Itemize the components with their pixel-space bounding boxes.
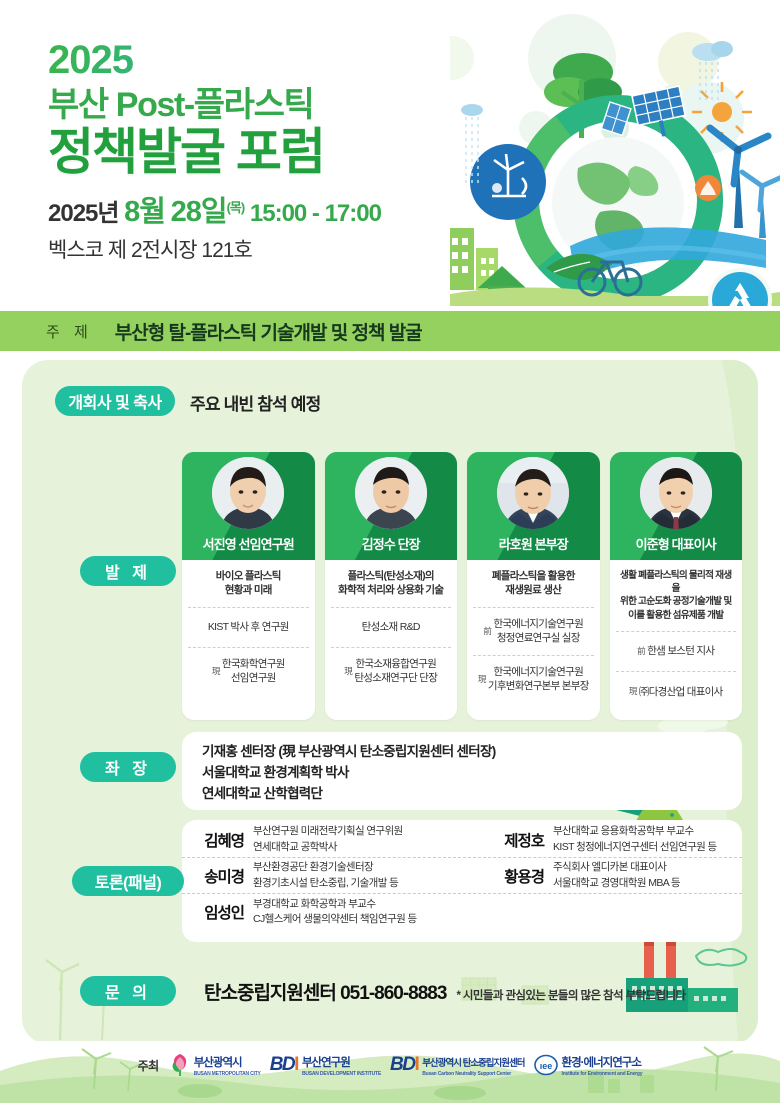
panelist-desc: 부산연구원 미래전략기획실 연구위원 연세대학교 공학박사	[253, 824, 403, 854]
speaker-card-header: 이준형 대표이사	[610, 452, 743, 560]
host-logo-row: 주최 부산광역시 BUSAN METROPOLITAN CITY BDI 부산연…	[0, 1053, 780, 1077]
date-weekday: (목)	[227, 200, 245, 215]
speaker-name: 서진영 선임연구원	[182, 534, 315, 553]
speaker-current-role: 現 한국에너지기술연구원 기후변화연구본부 본부장	[473, 656, 594, 703]
speaker-card-body: 폐플라스틱을 활용한 재생원료 생산 前 한국에너지기술연구원 청정연료연구실 …	[467, 560, 600, 711]
event-venue: 벡스코 제 2전시장 121호	[48, 234, 381, 264]
theme-label: 주 제	[46, 321, 93, 342]
date-month: 8월	[124, 196, 165, 228]
panelist-row: 임성인 부경대학교 화학공학과 부교수 CJ헬스케어 생물의약센터 책임연구원 …	[182, 894, 742, 930]
speaker-current-text: 한국화학연구원 선임연구원	[222, 657, 285, 686]
program-panel: 개회사 및 축사 주요 내빈 참석 예정 발 제	[22, 360, 758, 1044]
pill-discussion-label: 토론(패널)	[95, 869, 162, 893]
speaker-prev-role: 前 한국에너지기술연구원 청정연료연구실 실장	[473, 608, 594, 656]
speaker-card-header: 김정수 단장	[325, 452, 458, 560]
panelist-row: 송미경 부산환경공단 환경기술센터장 환경기초시설 탄소중립, 기술개발 등 황…	[182, 858, 742, 894]
bdi-wordmark: BDI	[270, 1054, 298, 1076]
logo-text-block: 부산광역시 BUSAN METROPOLITAN CITY	[194, 1053, 261, 1077]
poster-header: 2025 부산 Post-플라스틱 정책발굴 포럼 2025년 8월 28일(목…	[0, 0, 780, 306]
panelist-desc: 부경대학교 화학공학과 부교수 CJ헬스케어 생물의약센터 책임연구원 등	[253, 897, 417, 927]
title-line-1: 부산 Post-플라스틱	[48, 86, 381, 124]
speaker-prev-mark: 前	[637, 646, 645, 658]
inquiry-details: 탄소중립지원센터 051-860-8883 * 시민들과 관심있는 분들의 많은…	[204, 978, 685, 1005]
logo-name-en: Institute for Environment and Energy	[562, 1071, 643, 1077]
busan-city-emblem-icon	[170, 1053, 190, 1077]
panelist-entry: 김혜영 부산연구원 미래전략기획실 연구위원 연세대학교 공학박사	[182, 824, 482, 854]
speaker-prev-mark: 前	[483, 626, 491, 638]
pill-opening-label: 개회사 및 축사	[68, 389, 161, 413]
panelist-entry: 송미경 부산환경공단 환경기술센터장 환경기초시설 탄소중립, 기술개발 등	[182, 860, 482, 890]
speaker-card[interactable]: 김정수 단장 플라스틱(탄성소재)의 화학적 처리와 상용화 기술 탄성소재 R…	[325, 452, 458, 720]
event-datetime: 2025년 8월 28일(목) 15:00 - 17:00	[48, 195, 381, 230]
speaker-topic: 플라스틱(탄성소재)의 화학적 처리와 상용화 기술	[331, 560, 452, 608]
bdi-wordmark: BDI	[390, 1054, 418, 1076]
speaker-card[interactable]: 이준형 대표이사 생활 폐플라스틱의 물리적 재생을 위한 고순도화 공정기술개…	[610, 452, 743, 720]
speaker-topic: 폐플라스틱을 활용한 재생원료 생산	[473, 560, 594, 608]
chair-details: 기재홍 센터장 (現 부산광역시 탄소중립지원센터 센터장) 서울대학교 환경계…	[202, 742, 732, 805]
logo-busan-development-institute[interactable]: BDI 부산연구원 BUSAN DEVELOPMENT INSTITUTE	[270, 1053, 381, 1077]
speaker-prev-text: KIST 박사 후 연구원	[208, 620, 289, 634]
speaker-card-header: 라호원 본부장	[467, 452, 600, 560]
speaker-prev-text: 탄성소재 R&D	[362, 620, 420, 634]
svg-text:ıee: ıee	[539, 1061, 552, 1071]
logo-carbon-neutrality-center[interactable]: BDI 부산광역시 탄소중립지원센터 Busan Carbon Neutrali…	[390, 1053, 525, 1077]
pill-chair: 좌 장	[80, 752, 176, 782]
speaker-prev-text: 한국에너지기술연구원 청정연료연구실 실장	[493, 617, 583, 646]
inquiry-contact[interactable]: 탄소중립지원센터 051-860-8883	[204, 978, 446, 1005]
speaker-photo	[640, 457, 712, 529]
speaker-current-mark: 現	[344, 666, 352, 678]
panelist-name: 제정호	[482, 829, 544, 851]
pill-presentation: 발 제	[80, 556, 176, 586]
speaker-name: 라호원 본부장	[467, 534, 600, 553]
logo-name-ko: 부산연구원	[302, 1057, 350, 1069]
pill-chair-label: 좌 장	[105, 755, 151, 779]
poster-root: 2025 부산 Post-플라스틱 정책발굴 포럼 2025년 8월 28일(목…	[0, 0, 780, 1103]
panelist-desc: 부산대학교 응용화학공학부 부교수 KIST 청정에너지연구센터 선임연구원 등	[553, 824, 717, 854]
logo-text-block: 부산연구원 BUSAN DEVELOPMENT INSTITUTE	[302, 1053, 381, 1077]
pill-presentation-label: 발 제	[105, 559, 151, 583]
panelist-entry: 제정호 부산대학교 응용화학공학부 부교수 KIST 청정에너지연구센터 선임연…	[482, 824, 742, 854]
speaker-name: 김정수 단장	[325, 534, 458, 553]
panelist-entry: 임성인 부경대학교 화학공학과 부교수 CJ헬스케어 생물의약센터 책임연구원 …	[182, 897, 482, 927]
speaker-card[interactable]: 라호원 본부장 폐플라스틱을 활용한 재생원료 생산 前 한국에너지기술연구원 …	[467, 452, 600, 720]
pill-inquiry: 문 의	[80, 976, 176, 1006]
title-line-2: 정책발굴 포럼	[48, 126, 381, 179]
speaker-current-text: 한국에너지기술연구원 기후변화연구본부 본부장	[488, 665, 589, 694]
speaker-prev-role: 탄성소재 R&D	[331, 608, 452, 648]
pill-opening: 개회사 및 축사	[55, 386, 175, 416]
speaker-current-role: 現 한국소재융합연구원 탄성소재연구단 단장	[331, 648, 452, 695]
speaker-card-body: 생활 폐플라스틱의 물리적 재생을 위한 고순도화 공정기술개발 및 이를 활용…	[610, 560, 743, 720]
speaker-photo	[355, 457, 427, 529]
logo-name-en: Busan Carbon Neutrality Support Center	[422, 1071, 524, 1077]
panelist-row: 김혜영 부산연구원 미래전략기획실 연구위원 연세대학교 공학박사 제정호 부산…	[182, 822, 742, 858]
host-label: 주최	[138, 1057, 159, 1074]
logo-name-ko: 부산광역시 탄소중립지원센터	[422, 1058, 524, 1069]
speaker-topic: 바이오 플라스틱 현황과 미래	[188, 560, 309, 608]
panelist-name: 임성인	[182, 901, 244, 923]
panelist-grid: 김혜영 부산연구원 미래전략기획실 연구위원 연세대학교 공학박사 제정호 부산…	[182, 822, 742, 930]
poster-footer: 주최 부산광역시 BUSAN METROPOLITAN CITY BDI 부산연…	[0, 1041, 780, 1103]
panelist-name: 송미경	[182, 865, 244, 887]
logo-name-en: BUSAN METROPOLITAN CITY	[194, 1071, 261, 1077]
logo-name-ko: 환경·에너지연구소	[562, 1057, 641, 1069]
speaker-card-header: 서진영 선임연구원	[182, 452, 315, 560]
speaker-photo	[497, 457, 569, 529]
speaker-current-mark: 現	[629, 686, 637, 698]
year-label: 2025	[48, 40, 381, 80]
panelist-name: 김혜영	[182, 829, 244, 851]
event-time: 15:00 - 17:00	[250, 200, 381, 227]
header-text-block: 2025 부산 Post-플라스틱 정책발굴 포럼 2025년 8월 28일(목…	[48, 40, 381, 264]
opening-note: 주요 내빈 참석 예정	[190, 390, 321, 415]
speaker-current-text: 한국소재융합연구원 탄성소재연구단 단장	[354, 657, 437, 686]
speaker-current-role: 現 ㈜다경산업 대표이사	[616, 672, 737, 712]
theme-bar: 주 제 부산형 탈-플라스틱 기술개발 및 정책 발굴	[0, 311, 780, 351]
iee-emblem-icon: ıee	[534, 1054, 558, 1076]
theme-value: 부산형 탈-플라스틱 기술개발 및 정책 발굴	[115, 318, 422, 345]
speaker-card[interactable]: 서진영 선임연구원 바이오 플라스틱 현황과 미래 KIST 박사 후 연구원 …	[182, 452, 315, 720]
speaker-current-text: ㈜다경산업 대표이사	[639, 685, 723, 699]
speaker-prev-role: KIST 박사 후 연구원	[188, 608, 309, 648]
speaker-photo	[212, 457, 284, 529]
logo-environment-energy-institute[interactable]: ıee 환경·에너지연구소 Institute for Environment …	[534, 1053, 643, 1077]
pill-inquiry-label: 문 의	[105, 979, 151, 1003]
speaker-name: 이준형 대표이사	[610, 534, 743, 553]
logo-name-ko: 부산광역시	[194, 1057, 242, 1069]
speaker-current-mark: 現	[478, 674, 486, 686]
panelist-entry: 황용경 주식회사 엘디카본 대표이사 서울대학교 경영대학원 MBA 등	[482, 860, 742, 890]
speaker-card-body: 바이오 플라스틱 현황과 미래 KIST 박사 후 연구원 現 한국화학연구원 …	[182, 560, 315, 703]
date-year: 2025년	[48, 200, 118, 227]
speaker-card-list: 서진영 선임연구원 바이오 플라스틱 현황과 미래 KIST 박사 후 연구원 …	[182, 452, 742, 720]
logo-text-block: 환경·에너지연구소 Institute for Environment and …	[562, 1053, 643, 1077]
speaker-current-mark: 現	[212, 666, 220, 678]
logo-busan-city[interactable]: 부산광역시 BUSAN METROPOLITAN CITY	[170, 1053, 261, 1077]
pill-discussion: 토론(패널)	[72, 866, 184, 896]
speaker-topic: 생활 폐플라스틱의 물리적 재생을 위한 고순도화 공정기술개발 및 이를 활용…	[616, 560, 737, 632]
date-day: 28일	[171, 196, 227, 228]
panelist-desc: 주식회사 엘디카본 대표이사 서울대학교 경영대학원 MBA 등	[553, 860, 680, 890]
speaker-prev-role: 前 한샘 보스턴 지사	[616, 632, 737, 672]
speaker-card-body: 플라스틱(탄성소재)의 화학적 처리와 상용화 기술 탄성소재 R&D 現 한국…	[325, 560, 458, 703]
panelist-desc: 부산환경공단 환경기술센터장 환경기초시설 탄소중립, 기술개발 등	[253, 860, 398, 890]
logo-text-block: 부산광역시 탄소중립지원센터 Busan Carbon Neutrality S…	[422, 1053, 524, 1077]
eco-illustration	[450, 0, 780, 306]
panelist-name: 황용경	[482, 865, 544, 887]
speaker-current-role: 現 한국화학연구원 선임연구원	[188, 648, 309, 695]
inquiry-note: * 시민들과 관심있는 분들의 많은 참석 부탁드립니다	[456, 987, 685, 1003]
logo-name-en: BUSAN DEVELOPMENT INSTITUTE	[302, 1071, 381, 1077]
speaker-prev-text: 한샘 보스턴 지사	[647, 644, 714, 658]
